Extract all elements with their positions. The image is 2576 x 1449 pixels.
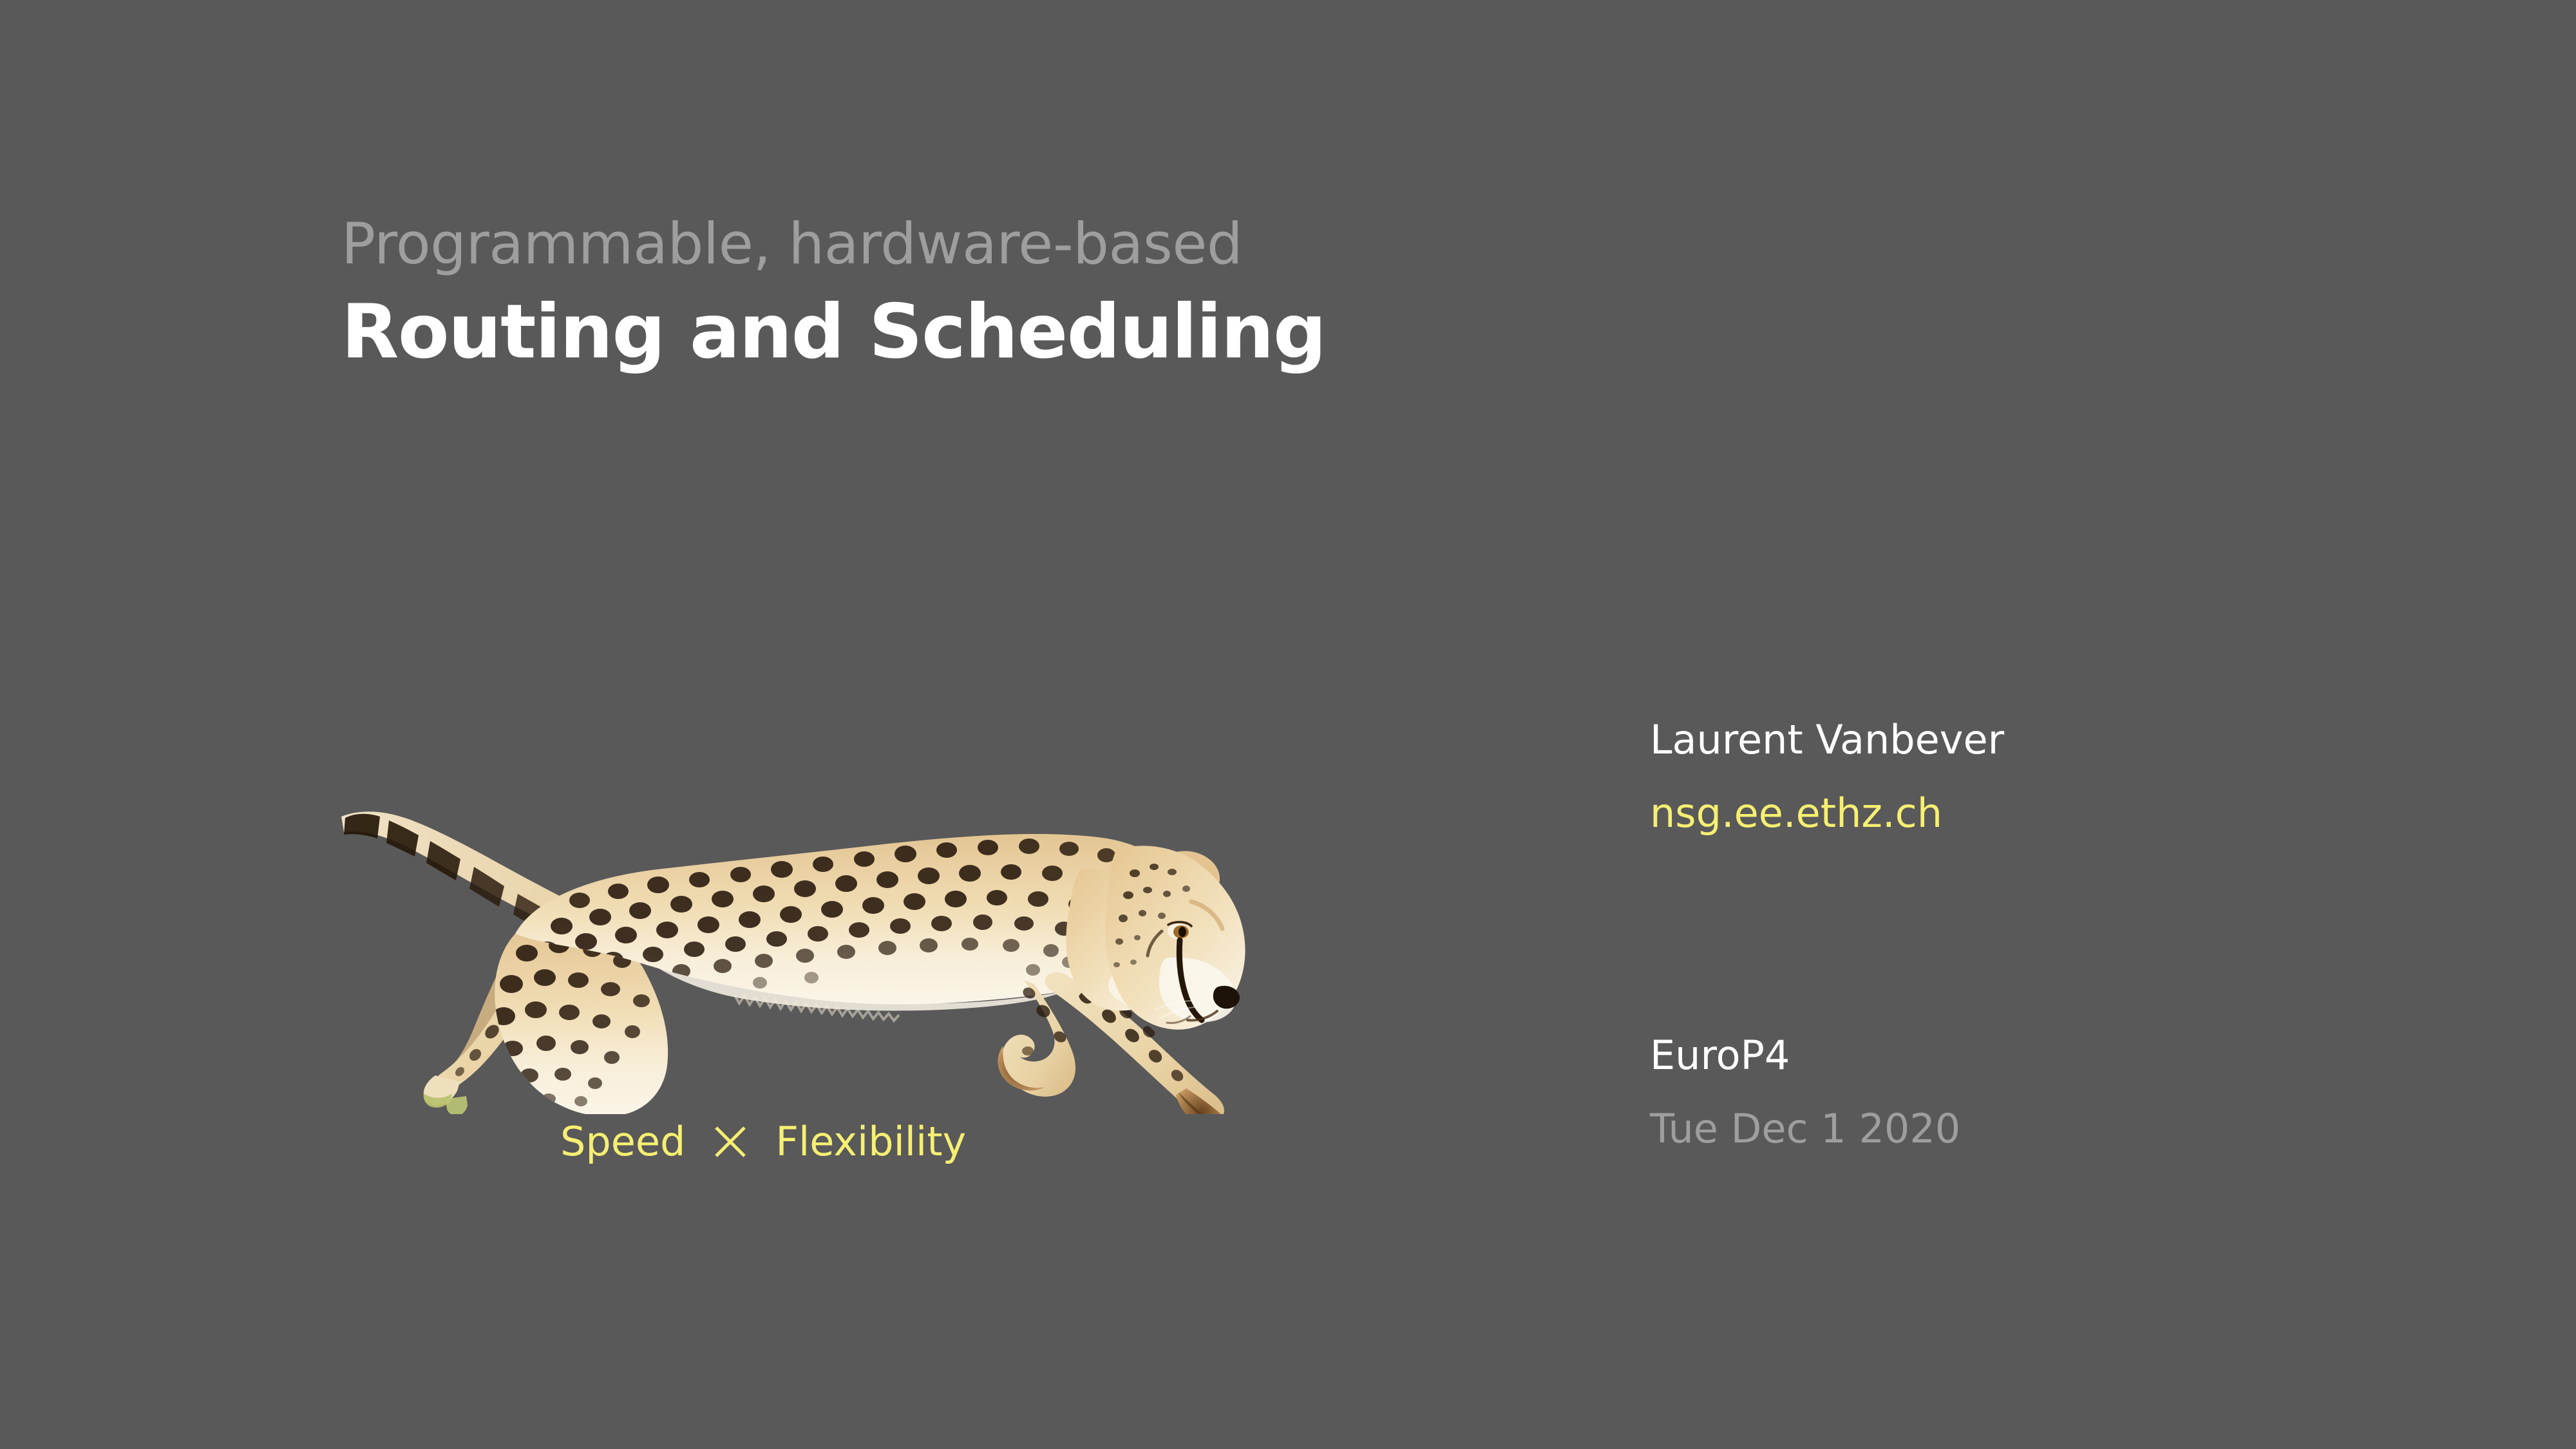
page-title: Routing and Scheduling: [341, 290, 1629, 374]
title-block: Programmable, hardware-based Routing and…: [341, 213, 1629, 374]
figure-caption: Speed Flexibility: [560, 1122, 966, 1162]
caption-flexibility-label: Flexibility: [775, 1122, 966, 1162]
venue-date: Tue Dec 1 2020: [1650, 1109, 2391, 1149]
cheetah-image: [322, 741, 1307, 1114]
venue-block: EuroP4 Tue Dec 1 2020: [1650, 1036, 2391, 1149]
cheetah-illustration: [322, 741, 1307, 1114]
cheetah-head: [1105, 846, 1245, 1029]
caption-speed-label: Speed: [560, 1122, 685, 1162]
presenter-block: Laurent Vanbever nsg.ee.ethz.ch: [1650, 720, 2391, 833]
multiplication-cross-icon: [685, 1122, 775, 1161]
venue-name: EuroP4: [1650, 1036, 2391, 1075]
presenter-website-link[interactable]: nsg.ee.ethz.ch: [1650, 793, 2391, 833]
presentation-slide: Programmable, hardware-based Routing and…: [0, 0, 2576, 1449]
title-eyebrow: Programmable, hardware-based: [341, 213, 1629, 276]
presenter-name: Laurent Vanbever: [1650, 720, 2391, 760]
